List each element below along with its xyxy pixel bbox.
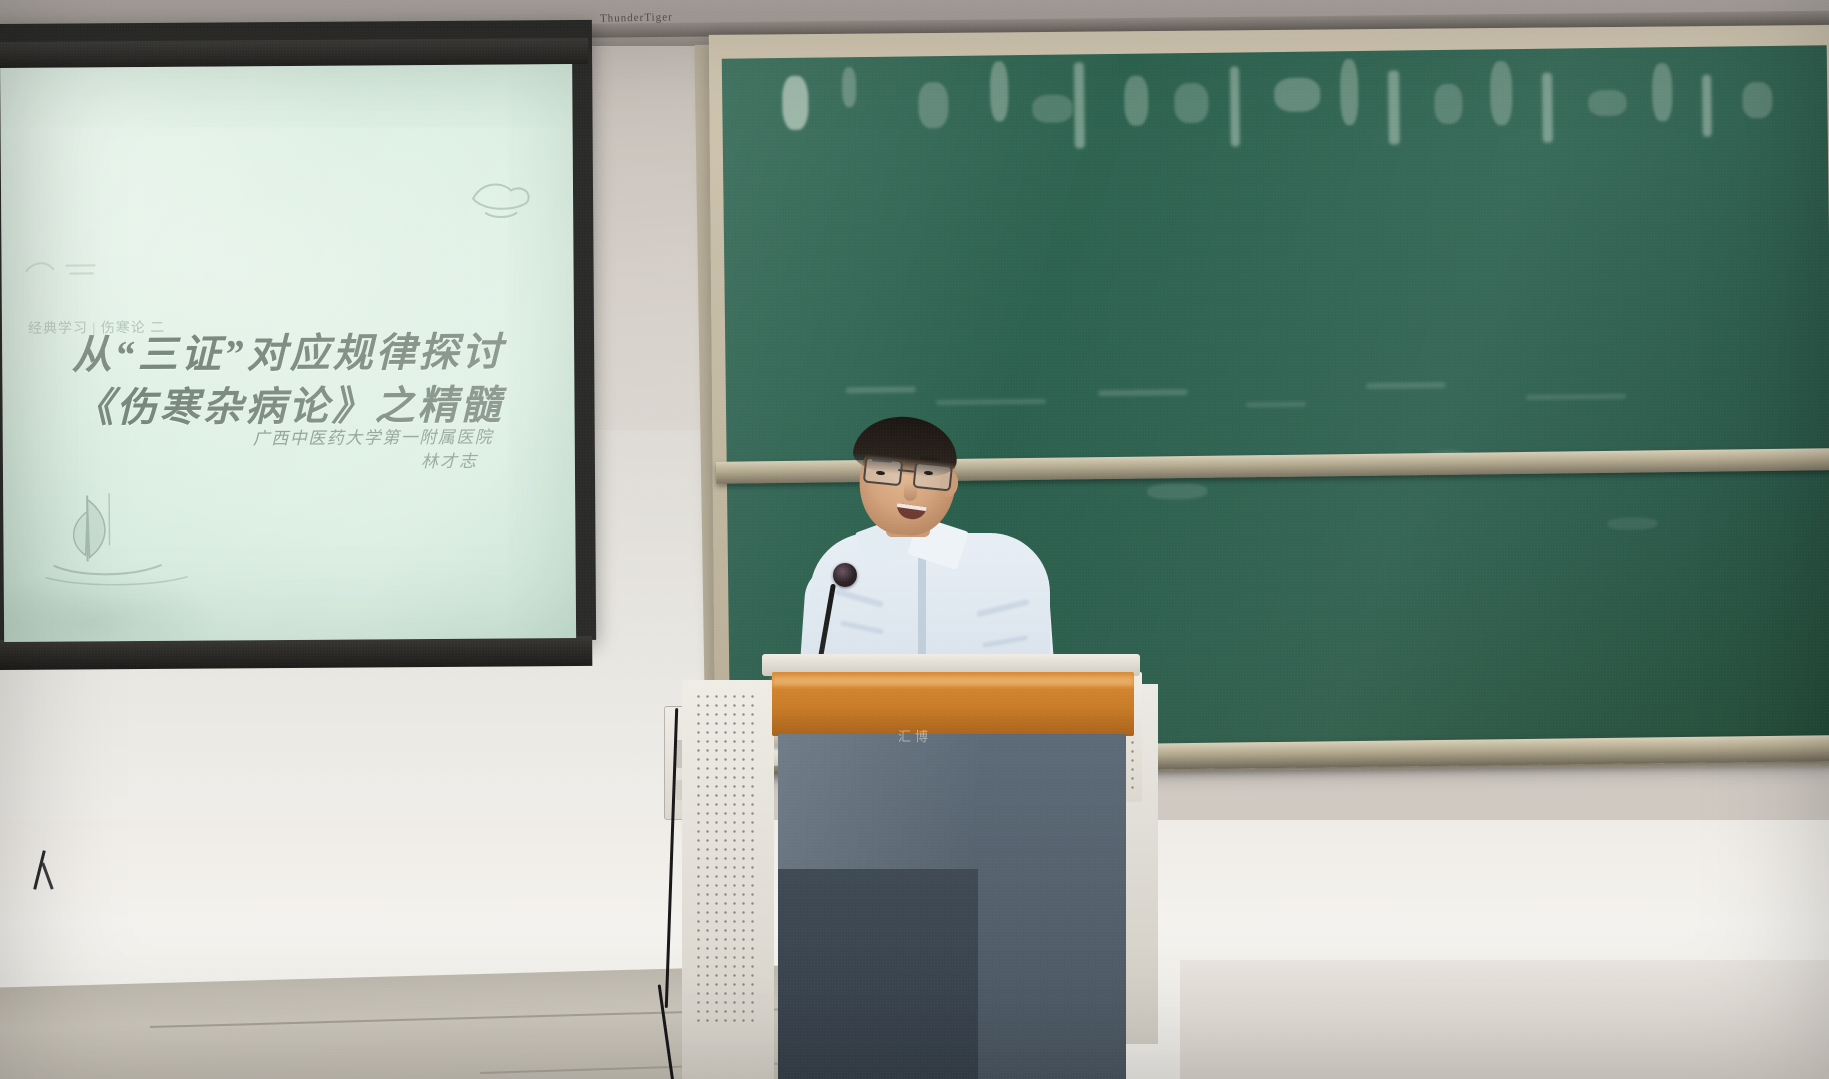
slide-author-name: 林才志: [421, 446, 576, 472]
right-baseboard: [1180, 960, 1829, 1079]
slide-title: 从“三证”对应规律探讨《伤寒杂病论》之精髓: [38, 326, 539, 435]
ceiling-label-text: ThunderTiger: [600, 11, 673, 25]
slide-affiliation: 广西中医药大学第一附属医院: [253, 422, 553, 449]
speaker-grille-left: [694, 692, 756, 1022]
bird-motif-icon: [23, 255, 101, 282]
projection-screen-surface: 经典学习 | 伤寒论 二 从“三证”对应规律探讨《伤寒杂病论》之精髓 广西中医药…: [0, 64, 576, 642]
lectern-logo-text: 汇博: [898, 726, 932, 745]
sailboat-ink-motif-icon: [39, 485, 200, 596]
eyeglass-lens-right: [913, 462, 954, 492]
lectern-front-panel: [778, 869, 978, 1079]
lectern[interactable]: 汇博: [762, 654, 1140, 1079]
projection-screen-frame: 经典学习 | 伤寒论 二 从“三证”对应规律探讨《伤寒杂病论》之精髓 广西中医药…: [0, 20, 596, 644]
lectern-trim-highlight: [772, 676, 1134, 686]
cloud-motif-icon: [467, 172, 537, 222]
microphone-head-icon[interactable]: [833, 563, 857, 587]
classroom-photo-scene: ThunderTiger: [0, 0, 1829, 1079]
